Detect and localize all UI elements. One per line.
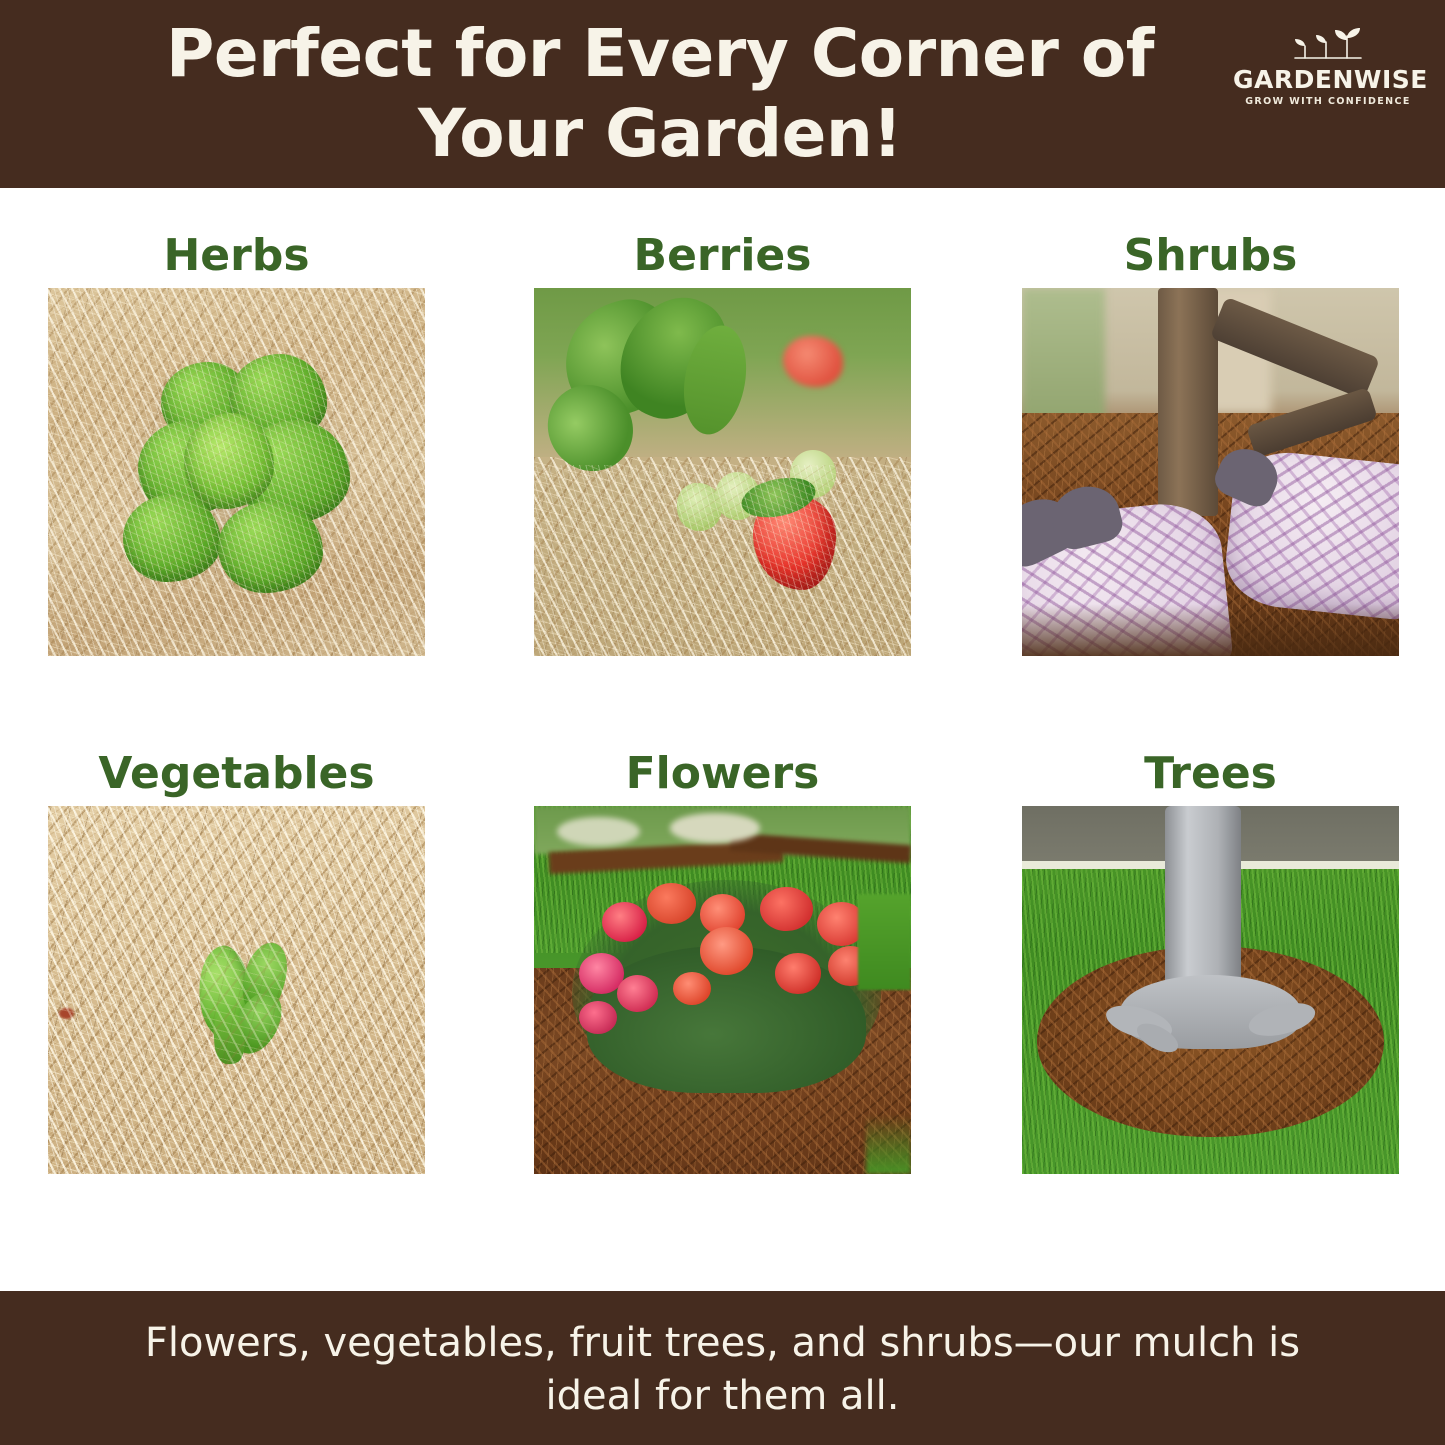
footer-banner: Flowers, vegetables, fruit trees, and sh…: [0, 1291, 1445, 1445]
category-cell-vegetables: Vegetables: [48, 748, 425, 1174]
brand-tagline: GROW WITH CONFIDENCE: [1233, 94, 1423, 110]
category-image-shrubs: [1022, 288, 1399, 656]
category-cell-trees: Trees: [1022, 748, 1399, 1174]
category-image-trees: [1022, 806, 1399, 1174]
category-label-flowers: Flowers: [534, 748, 911, 806]
sprout-plants-icon: [1233, 24, 1423, 66]
promo-graphic: Perfect for Every Corner of Your Garden!…: [0, 0, 1445, 1445]
category-image-berries: [534, 288, 911, 656]
category-image-herbs: [48, 288, 425, 656]
header-banner: Perfect for Every Corner of Your Garden!…: [0, 0, 1445, 188]
category-cell-shrubs: Shrubs: [1022, 230, 1399, 656]
category-label-shrubs: Shrubs: [1022, 230, 1399, 288]
category-cell-flowers: Flowers: [534, 748, 911, 1174]
footer-tagline: Flowers, vegetables, fruit trees, and sh…: [92, 1317, 1353, 1423]
category-image-vegetables: [48, 806, 425, 1174]
category-label-herbs: Herbs: [48, 230, 425, 288]
category-image-flowers: [534, 806, 911, 1174]
category-label-trees: Trees: [1022, 748, 1399, 806]
brand-wordmark: GARDENWISE: [1233, 66, 1423, 94]
page-title: Perfect for Every Corner of Your Garden!: [120, 14, 1200, 174]
category-grid: Herbs Berries: [0, 188, 1445, 1291]
category-label-berries: Berries: [534, 230, 911, 288]
brand-logo: GARDENWISE GROW WITH CONFIDENCE: [1233, 24, 1423, 110]
category-cell-berries: Berries: [534, 230, 911, 656]
category-label-vegetables: Vegetables: [48, 748, 425, 806]
category-cell-herbs: Herbs: [48, 230, 425, 656]
